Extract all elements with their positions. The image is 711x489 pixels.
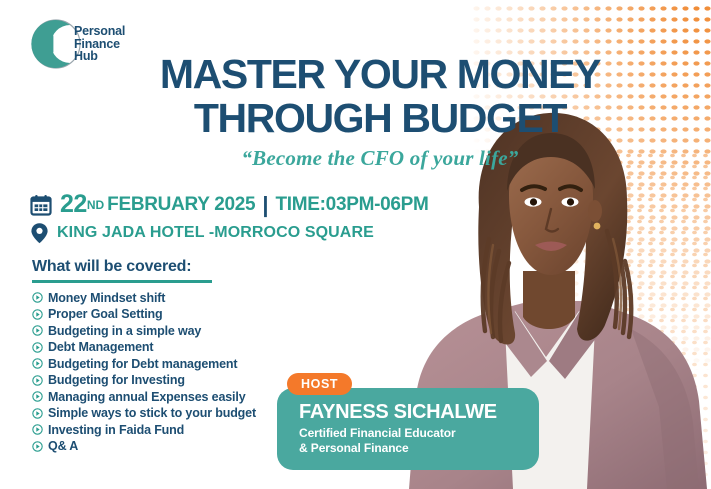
event-date-row: 22 ND FEBRUARY 2025 | TIME:03PM-06PM — [30, 190, 429, 219]
covered-list: Money Mindset shiftProper Goal SettingBu… — [32, 291, 256, 454]
list-item: Investing in Faida Fund — [32, 423, 256, 437]
host-badge: HOST — [287, 373, 352, 395]
circled-play-icon — [32, 342, 43, 353]
list-item: Q& A — [32, 439, 256, 453]
list-item-label: Money Mindset shift — [48, 291, 165, 305]
list-item: Managing annual Expenses easily — [32, 390, 256, 404]
circled-play-icon — [32, 375, 43, 386]
circled-play-icon — [32, 408, 43, 419]
circled-play-icon — [32, 424, 43, 435]
circled-play-icon — [32, 309, 43, 320]
event-flyer: Personal Finance Hub MASTER YOUR MONEY T… — [0, 0, 711, 489]
list-item-label: Simple ways to stick to your budget — [48, 406, 256, 420]
circled-play-icon — [32, 391, 43, 402]
list-item: Budgeting for Debt management — [32, 357, 256, 371]
event-time: TIME:03PM-06PM — [275, 194, 428, 216]
list-item-label: Proper Goal Setting — [48, 307, 163, 321]
list-item-label: Budgeting for Debt management — [48, 357, 237, 371]
map-pin-icon — [30, 222, 49, 244]
list-item: Budgeting for Investing — [32, 373, 256, 387]
event-location-row: KING JADA HOTEL -MORROCO SQUARE — [30, 222, 374, 244]
list-item-label: Budgeting for Investing — [48, 373, 185, 387]
list-item: Simple ways to stick to your budget — [32, 406, 256, 420]
headline-line-1: MASTER YOUR MONEY — [115, 52, 645, 96]
list-item-label: Debt Management — [48, 340, 153, 354]
circled-play-icon — [32, 292, 43, 303]
circled-play-icon — [32, 441, 43, 452]
list-item-label: Q& A — [48, 439, 78, 453]
host-role-line1: Certified Financial Educator — [299, 426, 539, 441]
list-item: Proper Goal Setting — [32, 307, 256, 321]
covered-section: What will be covered: Money Mindset shif… — [32, 258, 256, 456]
headline-line-2: THROUGH BUDGET — [115, 96, 645, 140]
brand-logo-text: Personal Finance Hub — [74, 25, 125, 64]
circled-play-icon — [32, 358, 43, 369]
covered-underline — [32, 280, 212, 283]
list-item: Budgeting in a simple way — [32, 324, 256, 338]
event-month-year: FEBRUARY 2025 — [107, 194, 255, 216]
host-name: FAYNESS SICHALWE — [299, 401, 539, 423]
covered-heading: What will be covered: — [32, 258, 256, 276]
meta-divider: | — [262, 192, 268, 218]
host-role-line2: & Personal Finance — [299, 441, 539, 456]
calendar-icon — [30, 194, 52, 216]
event-day-suffix: ND — [87, 198, 104, 212]
event-venue: KING JADA HOTEL -MORROCO SQUARE — [57, 224, 374, 242]
brand-logo-line1: Personal — [74, 25, 125, 38]
page-title: MASTER YOUR MONEY THROUGH BUDGET — [115, 52, 645, 141]
list-item: Debt Management — [32, 340, 256, 354]
list-item-label: Investing in Faida Fund — [48, 423, 184, 437]
brand-logo-line3: Hub — [74, 50, 125, 63]
event-day: 22 — [60, 190, 87, 219]
host-card: FAYNESS SICHALWE Certified Financial Edu… — [277, 388, 539, 470]
list-item-label: Budgeting in a simple way — [48, 324, 201, 338]
headline-tagline: “Become the CFO of your life” — [115, 146, 645, 171]
brand-logo: Personal Finance Hub — [30, 16, 138, 72]
circled-play-icon — [32, 325, 43, 336]
list-item-label: Managing annual Expenses easily — [48, 390, 246, 404]
list-item: Money Mindset shift — [32, 291, 256, 305]
